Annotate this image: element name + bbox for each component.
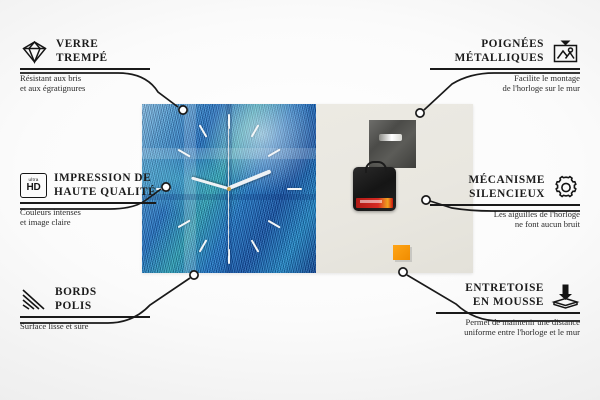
hanging-picture-frame-icon xyxy=(551,38,580,65)
beveled-edge-icon xyxy=(20,288,48,312)
silent-quartz-movement xyxy=(353,167,396,211)
callout-title-line1: IMPRESSION DE xyxy=(54,172,151,184)
hour-mark-5 xyxy=(251,239,260,252)
callout-sub-line2: et image claire xyxy=(20,217,71,227)
second-hand xyxy=(228,126,229,256)
callout-sub-line2: uniforme entre l'horloge et le mur xyxy=(464,327,580,337)
callout-sub-line2: et aux égratignures xyxy=(20,83,85,93)
battery xyxy=(356,198,393,208)
callout-sub-line1: Surface lisse et sûre xyxy=(20,321,89,331)
callout-title-line1: BORDS xyxy=(55,286,97,298)
callout-print-quality: ultra HD IMPRESSION DE HAUTE QUALITÉ Cou… xyxy=(20,172,180,228)
callout-title-line2: TREMPÉ xyxy=(56,52,108,64)
callout-sub-line1: Les aiguilles de l'horloge xyxy=(494,209,580,219)
product-feature-infographic: VERRE TREMPÉ Résistant aux bris et aux é… xyxy=(0,0,600,400)
callout-sub-line2: ne font aucun bruit xyxy=(515,219,580,229)
hands-center-cap xyxy=(227,187,231,191)
arrow-down-onto-stack-icon xyxy=(551,282,580,309)
callout-silent-mechanism: MÉCANISME SILENCIEUX Les aiguilles de l'… xyxy=(430,174,580,230)
callout-divider xyxy=(436,312,580,314)
callout-divider xyxy=(20,316,150,318)
callout-divider xyxy=(20,68,150,70)
callout-metal-handles: POIGNÉES MÉTALLIQUES Facilite le montage xyxy=(430,38,580,94)
hour-mark-4 xyxy=(268,219,281,228)
callout-sub-line1: Facilite le montage xyxy=(514,73,580,83)
callout-sub-line2: de l'horloge sur le mur xyxy=(503,83,580,93)
callout-title-line2: HAUTE QUALITÉ xyxy=(54,186,156,198)
pattern-band-vertical xyxy=(184,104,196,273)
callout-title-line2: MÉTALLIQUES xyxy=(455,52,544,64)
callout-sub-line1: Permet de maintenir une distance xyxy=(465,317,580,327)
foam-spacer xyxy=(393,245,410,260)
callout-title-line1: MÉCANISME xyxy=(469,174,546,186)
diamond-icon xyxy=(20,40,49,64)
callout-title-line2: POLIS xyxy=(55,300,92,312)
ultra-hd-icon-main-text: HD xyxy=(26,183,40,193)
callout-tempered-glass: VERRE TREMPÉ Résistant aux bris et aux é… xyxy=(20,38,170,94)
callout-polished-edges: BORDS POLIS Surface lisse et sûre xyxy=(20,286,170,331)
callout-sub-line1: Couleurs intenses xyxy=(20,207,81,217)
callout-title-line2: EN MOUSSE xyxy=(473,296,544,308)
hour-mark-7 xyxy=(199,239,208,252)
callout-divider xyxy=(430,204,580,206)
callout-sub-line1: Résistant aux bris xyxy=(20,73,81,83)
movement-hanging-loop xyxy=(365,161,387,173)
callout-divider xyxy=(20,202,156,204)
callout-title-line1: VERRE xyxy=(56,38,98,50)
hanger-slot xyxy=(379,134,402,141)
callout-title-line1: ENTRETOISE xyxy=(465,282,544,294)
battery-label xyxy=(360,200,382,203)
ultra-hd-icon: ultra HD xyxy=(20,173,47,198)
callout-title-line1: POIGNÉES xyxy=(481,38,544,50)
callout-title-line2: SILENCIEUX xyxy=(469,188,545,200)
product-photo xyxy=(142,104,473,273)
callout-divider xyxy=(430,68,580,70)
gear-icon xyxy=(552,174,580,201)
callout-foam-spacer: ENTRETOISE EN MOUSSE Permet de maintenir… xyxy=(436,282,580,338)
